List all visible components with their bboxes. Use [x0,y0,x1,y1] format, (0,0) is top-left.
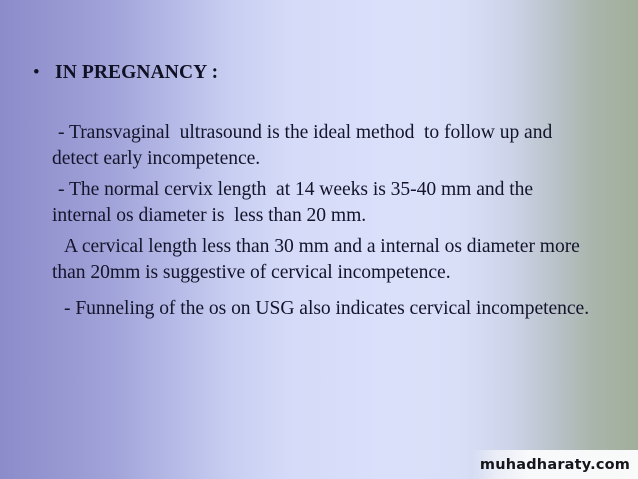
bullet-icon: • [33,61,55,85]
body-paragraph: - Transvaginal ultrasound is the ideal m… [52,120,597,171]
body-paragraph: - The normal cervix length at 14 weeks i… [52,177,597,228]
watermark-banner: muhadharaty.com [472,450,638,479]
slide-body: - Transvaginal ultrasound is the ideal m… [52,120,597,321]
slide-canvas: • IN PREGNANCY : - Transvaginal ultrasou… [0,0,638,479]
body-paragraph: - Funneling of the os on USG also indica… [52,296,597,322]
body-paragraph: A cervical length less than 30 mm and a … [52,234,597,285]
watermark-label: muhadharaty.com [480,457,630,473]
page-title: IN PREGNANCY : [55,61,218,85]
slide-heading: • IN PREGNANCY : [33,61,218,85]
